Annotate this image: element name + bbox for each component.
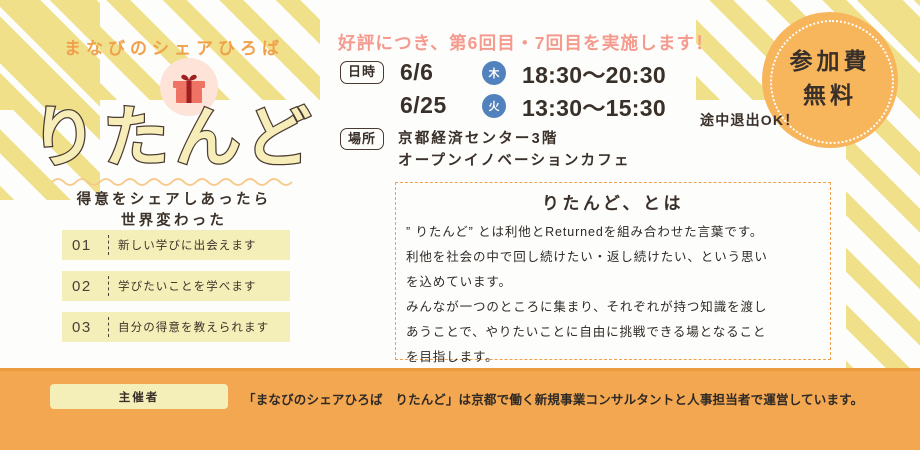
brand-column: まなびのシェアひろば りたんど 得意をシェアしあったら 世界変わった 01 新し… [0,0,348,368]
venue-line-2: オープンイノベーションカフェ [398,150,631,172]
datetime-block: 日時 6/6 木 18:30〜20:30 6/25 火 13:30〜15:30 [340,56,666,122]
event-date: 6/25 [400,92,482,119]
datetime-row: 日時 6/6 木 18:30〜20:30 [340,56,666,89]
wave-divider-icon [52,176,296,188]
benefit-label: 学びたいことを学べます [118,278,257,294]
brand-supertitle: まなびのシェアひろば [0,34,348,59]
about-line: を目指します。 [406,345,820,370]
benefit-number: 02 [72,278,106,295]
benefit-number: 01 [72,237,106,254]
benefit-number: 03 [72,319,106,336]
benefit-label: 新しい学びに出会えます [118,237,257,253]
benefit-separator [108,235,109,255]
tagline-line-1: 得意をシェアしあったら [0,190,348,211]
venue-lines: 京都経済センター3階 オープンイノベーションカフェ [398,128,631,172]
venue-block: 場所 京都経済センター3階 オープンイノベーションカフェ [340,128,631,172]
venue-line-1: 京都経済センター3階 [398,128,631,150]
organizer-chip: 主催者 [50,384,228,409]
brand-title: りたんど [0,104,348,170]
about-line: を込めています。 [406,270,820,295]
day-of-week-badge: 火 [482,94,506,118]
benefit-separator [108,317,109,337]
fee-badge-line-1: 参加費 [762,44,898,78]
about-line: あうことで、やりたいことに自由に挑戦できる場となること [406,320,820,345]
poster-canvas: まなびのシェアひろば りたんど 得意をシェアしあったら 世界変わった 01 新し… [0,0,920,450]
footer-top-rule [0,368,920,371]
event-time: 13:30〜15:30 [522,89,666,123]
fee-badge-text: 参加費 無料 [762,44,898,112]
list-item: 03 自分の得意を教えられます [62,312,290,342]
datetime-row: 6/25 火 13:30〜15:30 [340,89,666,122]
about-line: 利他を社会の中で回し続けたい・返し続けたい、という思い [406,245,820,270]
fee-badge-line-2: 無料 [762,78,898,112]
day-of-week-badge: 木 [482,61,506,85]
benefit-label: 自分の得意を教えられます [118,319,269,335]
event-headline: 好評につき、第6回目・7回目を実施します！ [338,30,714,55]
tagline-line-2: 世界変わった [0,211,348,232]
list-item: 01 新しい学びに出会えます [62,230,290,260]
event-time: 18:30〜20:30 [522,56,666,90]
datetime-label: 日時 [340,61,384,83]
benefit-separator [108,276,109,296]
datetime-label-slot: 日時 [340,61,400,83]
brand-tagline: 得意をシェアしあったら 世界変わった [0,190,348,232]
venue-label: 場所 [340,128,384,150]
footer-bar: 主催者 「まなびのシェアひろば りたんど」は京都で働く新規事業コンサルタントと人… [0,368,920,450]
list-item: 02 学びたいことを学べます [62,271,290,301]
event-date: 6/6 [400,59,482,86]
organizer-description: 「まなびのシェアひろば りたんど」は京都で働く新規事業コンサルタントと人事担当者… [243,389,863,408]
venue-row: 場所 京都経済センター3階 オープンイノベーションカフェ [340,128,631,172]
about-title: りたんど、とは [406,189,820,214]
about-line: ” りたんど” とは利他とReturnedを組み合わせた言葉です。 [406,220,820,245]
leave-anytime-note: 途中退出OK！ [700,110,799,130]
about-line: みんなが一つのところに集まり、それぞれが持つ知識を渡し [406,295,820,320]
about-panel: りたんど、とは ” りたんど” とは利他とReturnedを組み合わせた言葉です… [395,182,831,360]
benefit-list: 01 新しい学びに出会えます 02 学びたいことを学べます 03 自分の得意を教… [62,230,290,353]
